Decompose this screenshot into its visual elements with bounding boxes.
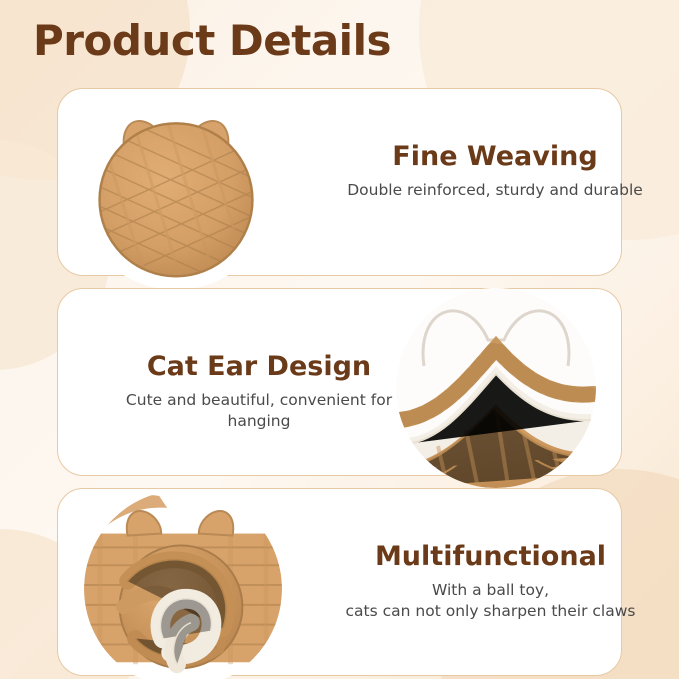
feature-subtitle: With a ball toy, cats can not only sharp… <box>338 580 643 622</box>
product-details-page: Product Details Fine Weaving Double rein… <box>0 0 679 679</box>
product-image-woven-ball-toy <box>84 490 282 679</box>
product-image-cat-ear-closeup <box>396 288 596 488</box>
feature-heading: Multifunctional <box>338 541 643 573</box>
feature-card-text: Fine Weaving Double reinforced, sturdy a… <box>345 141 645 201</box>
feature-subtitle: Double reinforced, sturdy and durable <box>345 180 645 201</box>
product-image-woven-cat-mat <box>78 94 274 290</box>
feature-heading: Fine Weaving <box>345 141 645 173</box>
page-title: Product Details <box>33 16 391 65</box>
feature-card-text: Multifunctional With a ball toy, cats ca… <box>338 541 643 622</box>
feature-heading: Cat Ear Design <box>94 351 424 383</box>
feature-subtitle: Cute and beautiful, convenient for hangi… <box>94 390 424 432</box>
feature-card-text: Cat Ear Design Cute and beautiful, conve… <box>94 351 424 432</box>
